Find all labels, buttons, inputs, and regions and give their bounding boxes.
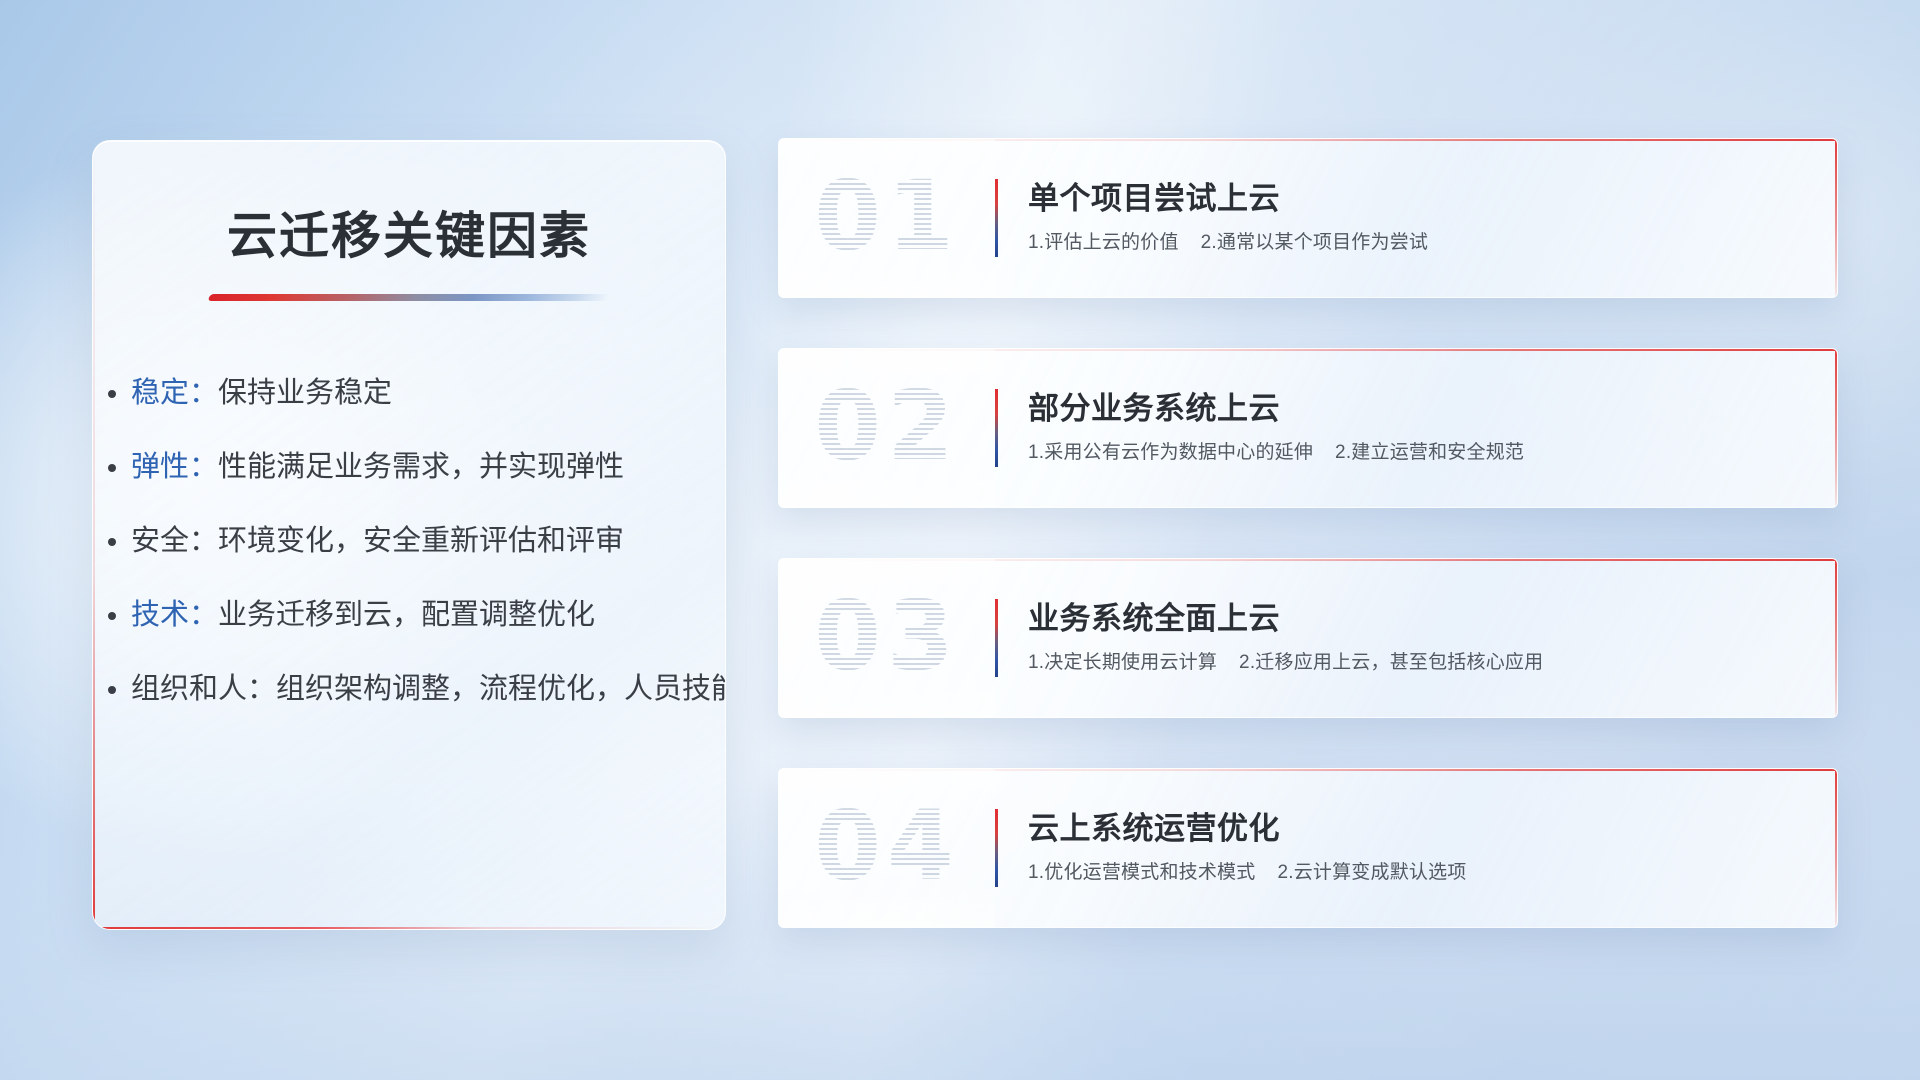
stage-card[interactable]: 04云上系统运营优化1.优化运营模式和技术模式2.云计算变成默认选项 bbox=[778, 768, 1838, 928]
stage-number: 04 bbox=[814, 798, 960, 894]
card-point: 1.优化运营模式和技术模式 bbox=[1028, 862, 1255, 883]
card-body: 云上系统运营优化1.优化运营模式和技术模式2.云计算变成默认选项 bbox=[1028, 812, 1837, 885]
stage-number: 03 bbox=[814, 588, 960, 684]
migration-stage-cards: 01单个项目尝试上云1.评估上云的价值2.通常以某个项目作为尝试02部分业务系统… bbox=[778, 138, 1838, 928]
card-point: 2.通常以某个项目作为尝试 bbox=[1201, 232, 1428, 253]
card-accent-divider bbox=[995, 809, 998, 887]
card-body: 单个项目尝试上云1.评估上云的价值2.通常以某个项目作为尝试 bbox=[1028, 182, 1837, 255]
card-title: 部分业务系统上云 bbox=[1028, 392, 1803, 426]
card-body: 部分业务系统上云1.采用公有云作为数据中心的延伸2.建立运营和安全规范 bbox=[1028, 392, 1837, 465]
card-subtitle: 1.评估上云的价值2.通常以某个项目作为尝试 bbox=[1028, 232, 1803, 255]
card-point: 2.云计算变成默认选项 bbox=[1277, 862, 1466, 883]
factor-item: 安全：环境变化，安全重新评估和评审 bbox=[131, 527, 725, 556]
factor-item: 稳定：保持业务稳定 bbox=[131, 379, 725, 408]
stage-card[interactable]: 03业务系统全面上云1.决定长期使用云计算2.迁移应用上云，甚至包括核心应用 bbox=[778, 558, 1838, 718]
stage-number-badge: 01 bbox=[779, 139, 995, 297]
stage-card[interactable]: 01单个项目尝试上云1.评估上云的价值2.通常以某个项目作为尝试 bbox=[778, 138, 1838, 298]
factor-item: 技术：业务迁移到云，配置调整优化 bbox=[131, 601, 725, 630]
slide-stage: 云迁移关键因素 稳定：保持业务稳定弹性：性能满足业务需求，并实现弹性安全：环境变… bbox=[0, 0, 1920, 1080]
card-point: 1.采用公有云作为数据中心的延伸 bbox=[1028, 442, 1313, 463]
card-accent-divider bbox=[995, 179, 998, 257]
card-accent-divider bbox=[995, 599, 998, 677]
factor-description: 保持业务稳定 bbox=[218, 377, 392, 409]
stage-number: 02 bbox=[814, 378, 960, 474]
card-subtitle: 1.优化运营模式和技术模式2.云计算变成默认选项 bbox=[1028, 862, 1803, 885]
factor-label: 安全： bbox=[131, 525, 218, 557]
factor-description: 环境变化，安全重新评估和评审 bbox=[218, 525, 624, 557]
stage-number: 01 bbox=[814, 168, 960, 264]
card-title: 业务系统全面上云 bbox=[1028, 602, 1803, 636]
key-factors-list: 稳定：保持业务稳定弹性：性能满足业务需求，并实现弹性安全：环境变化，安全重新评估… bbox=[93, 379, 725, 704]
factor-description: 性能满足业务需求，并实现弹性 bbox=[218, 451, 624, 483]
card-body: 业务系统全面上云1.决定长期使用云计算2.迁移应用上云，甚至包括核心应用 bbox=[1028, 602, 1837, 675]
factor-label: 弹性： bbox=[131, 451, 218, 483]
card-title: 单个项目尝试上云 bbox=[1028, 182, 1803, 216]
card-point: 2.迁移应用上云，甚至包括核心应用 bbox=[1239, 652, 1543, 673]
key-factors-panel: 云迁移关键因素 稳定：保持业务稳定弹性：性能满足业务需求，并实现弹性安全：环境变… bbox=[92, 140, 726, 930]
title-underline-rule bbox=[208, 294, 611, 301]
factor-item: 弹性：性能满足业务需求，并实现弹性 bbox=[131, 453, 725, 482]
stage-number-badge: 02 bbox=[779, 349, 995, 507]
stage-number-badge: 04 bbox=[779, 769, 995, 927]
card-title: 云上系统运营优化 bbox=[1028, 812, 1803, 846]
factor-label: 稳定： bbox=[131, 377, 218, 409]
factor-label: 技术： bbox=[131, 599, 218, 631]
factor-description: 组织架构调整，流程优化，人员技能培训 bbox=[276, 673, 726, 705]
stage-number-badge: 03 bbox=[779, 559, 995, 717]
factor-label: 组织和人： bbox=[131, 673, 276, 705]
factor-item: 组织和人：组织架构调整，流程优化，人员技能培训 bbox=[131, 675, 725, 704]
card-subtitle: 1.采用公有云作为数据中心的延伸2.建立运营和安全规范 bbox=[1028, 442, 1803, 465]
factor-description: 业务迁移到云，配置调整优化 bbox=[218, 599, 595, 631]
card-point: 2.建立运营和安全规范 bbox=[1335, 442, 1524, 463]
page-title: 云迁移关键因素 bbox=[93, 196, 725, 268]
stage-card[interactable]: 02部分业务系统上云1.采用公有云作为数据中心的延伸2.建立运营和安全规范 bbox=[778, 348, 1838, 508]
card-point: 1.评估上云的价值 bbox=[1028, 232, 1179, 253]
card-accent-divider bbox=[995, 389, 998, 467]
card-point: 1.决定长期使用云计算 bbox=[1028, 652, 1217, 673]
card-subtitle: 1.决定长期使用云计算2.迁移应用上云，甚至包括核心应用 bbox=[1028, 652, 1803, 675]
